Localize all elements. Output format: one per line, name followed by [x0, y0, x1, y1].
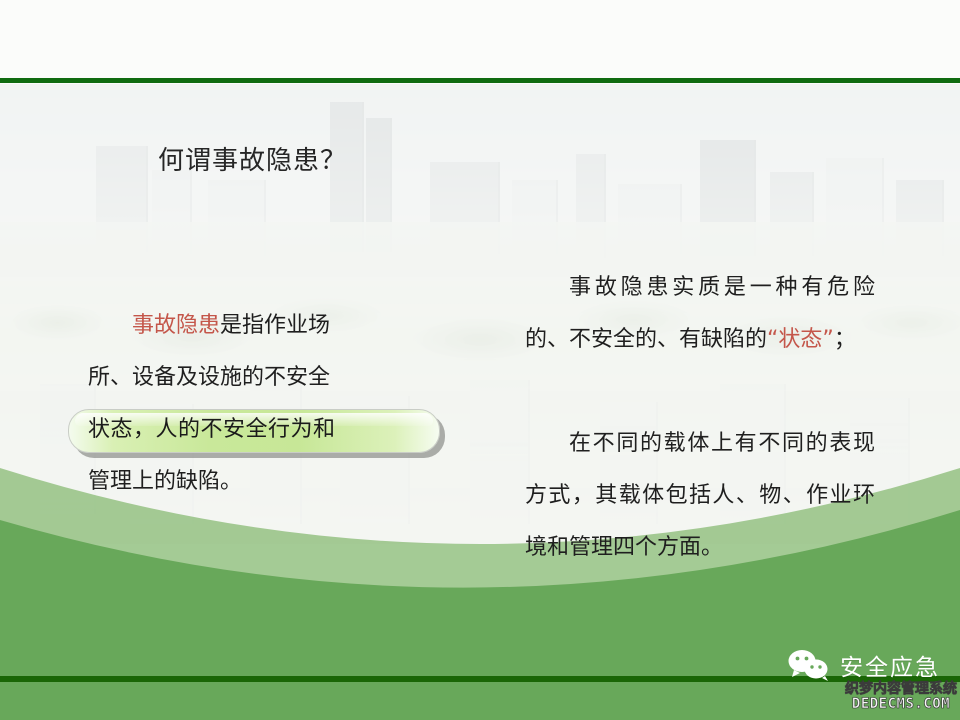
left-line-1-rest: 是指作业场 — [220, 313, 330, 338]
left-line-2: 所、设备及设施的不安全 — [88, 352, 418, 404]
left-accent-term: 事故隐患 — [132, 313, 220, 338]
right-para1-part-b: ； — [834, 327, 856, 352]
right-paragraph-1: 事故隐患实质是一种有危险的、不安全的、有缺陷的“状态”； — [525, 262, 875, 366]
left-line-1: 事故隐患是指作业场 — [88, 300, 418, 352]
dedecms-watermark: 织梦内容管理系统 DEDECMS.COM — [845, 682, 957, 711]
right-paragraph-2: 在不同的载体上有不同的表现方式，其载体包括人、物、作业环境和管理四个方面。 — [525, 418, 875, 574]
wechat-icon — [786, 648, 832, 682]
paragraph-gap — [525, 366, 875, 418]
wechat-brand-block: 安全应急 — [786, 648, 940, 682]
watermark-chinese: 织梦内容管理系统 — [845, 682, 957, 697]
right-text-column: 事故隐患实质是一种有危险的、不安全的、有缺陷的“状态”； 在不同的载体上有不同的… — [525, 262, 875, 574]
wechat-account-label: 安全应急 — [840, 648, 940, 682]
top-green-divider — [0, 78, 960, 83]
slide-canvas: 何谓事故隐患？ 事故隐患是指作业场 所、设备及设施的不安全 管理上的缺陷。 状态… — [0, 0, 960, 720]
watermark-english: DEDECMS.COM — [845, 697, 957, 712]
building — [470, 380, 530, 524]
left-text-column: 事故隐患是指作业场 所、设备及设施的不安全 管理上的缺陷。 — [88, 300, 418, 508]
left-line-4: 管理上的缺陷。 — [88, 456, 418, 508]
right-accent-term: “状态” — [767, 327, 834, 352]
page-title: 何谓事故隐患？ — [158, 140, 347, 177]
left-line-3-highlighted: 状态，人的不安全行为和 — [88, 412, 418, 448]
